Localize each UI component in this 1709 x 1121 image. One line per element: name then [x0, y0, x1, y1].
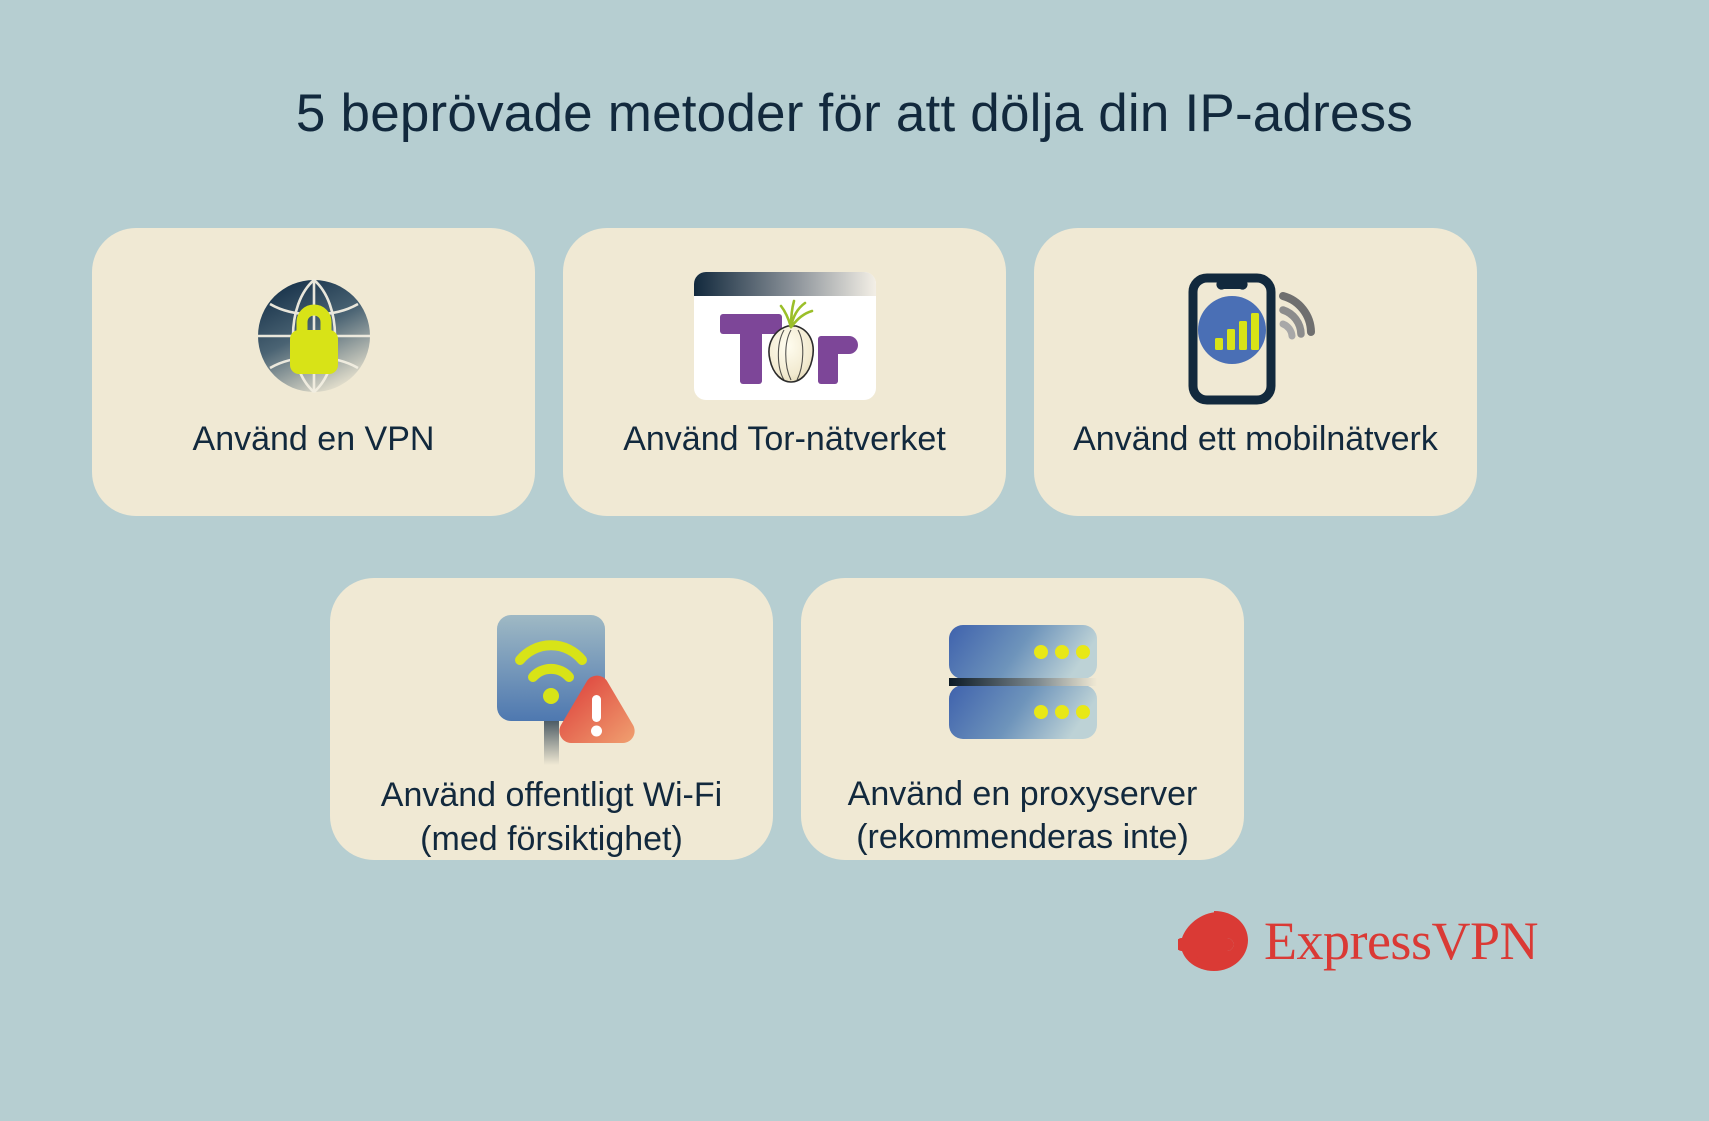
- card-label: Använd en proxyserver (rekommenderas int…: [838, 773, 1208, 860]
- card-public-wifi[interactable]: Använd offentligt Wi-Fi (med försiktighe…: [330, 578, 773, 860]
- proxy-server-icon: [801, 612, 1244, 761]
- card-mobile[interactable]: Använd ett mobilnätverk: [1034, 228, 1477, 516]
- card-tor[interactable]: Använd Tor-nätverket: [563, 228, 1006, 516]
- card-label-main: Använd en VPN: [193, 420, 435, 458]
- card-label: Använd offentligt Wi-Fi (med försiktighe…: [371, 774, 732, 861]
- card-label-main: Använd ett mobilnätverk: [1073, 420, 1438, 458]
- globe-lock-icon: [92, 266, 535, 406]
- card-label-main: Använd Tor-nätverket: [623, 420, 946, 458]
- page-title: 5 beprövade metoder för att dölja din IP…: [0, 84, 1709, 145]
- infographic-page: 5 beprövade metoder för att dölja din IP…: [0, 0, 1709, 1121]
- expressvpn-logo[interactable]: ExpressVPN: [1178, 905, 1538, 977]
- public-wifi-warning-icon: [330, 612, 773, 762]
- card-vpn[interactable]: Använd en VPN: [92, 228, 535, 516]
- card-proxy[interactable]: Använd en proxyserver (rekommenderas int…: [801, 578, 1244, 860]
- card-label: Använd en VPN: [183, 418, 445, 462]
- card-row-top: Använd en VPN: [92, 228, 1477, 516]
- card-label-main: Använd en proxyserver: [848, 775, 1198, 813]
- card-label-main: Använd offentligt Wi-Fi: [381, 776, 722, 814]
- expressvpn-wordmark: ExpressVPN: [1264, 914, 1538, 968]
- card-label-sub: (med försiktighet): [381, 818, 722, 862]
- card-row-bottom: Använd offentligt Wi-Fi (med försiktighe…: [330, 578, 1244, 860]
- mobile-signal-icon: [1034, 266, 1477, 406]
- expressvpn-mark-icon: [1178, 905, 1250, 977]
- card-label: Använd ett mobilnätverk: [1063, 418, 1448, 462]
- card-label: Använd Tor-nätverket: [613, 418, 956, 462]
- card-label-sub: (rekommenderas inte): [848, 816, 1198, 860]
- tor-browser-icon: [563, 266, 1006, 406]
